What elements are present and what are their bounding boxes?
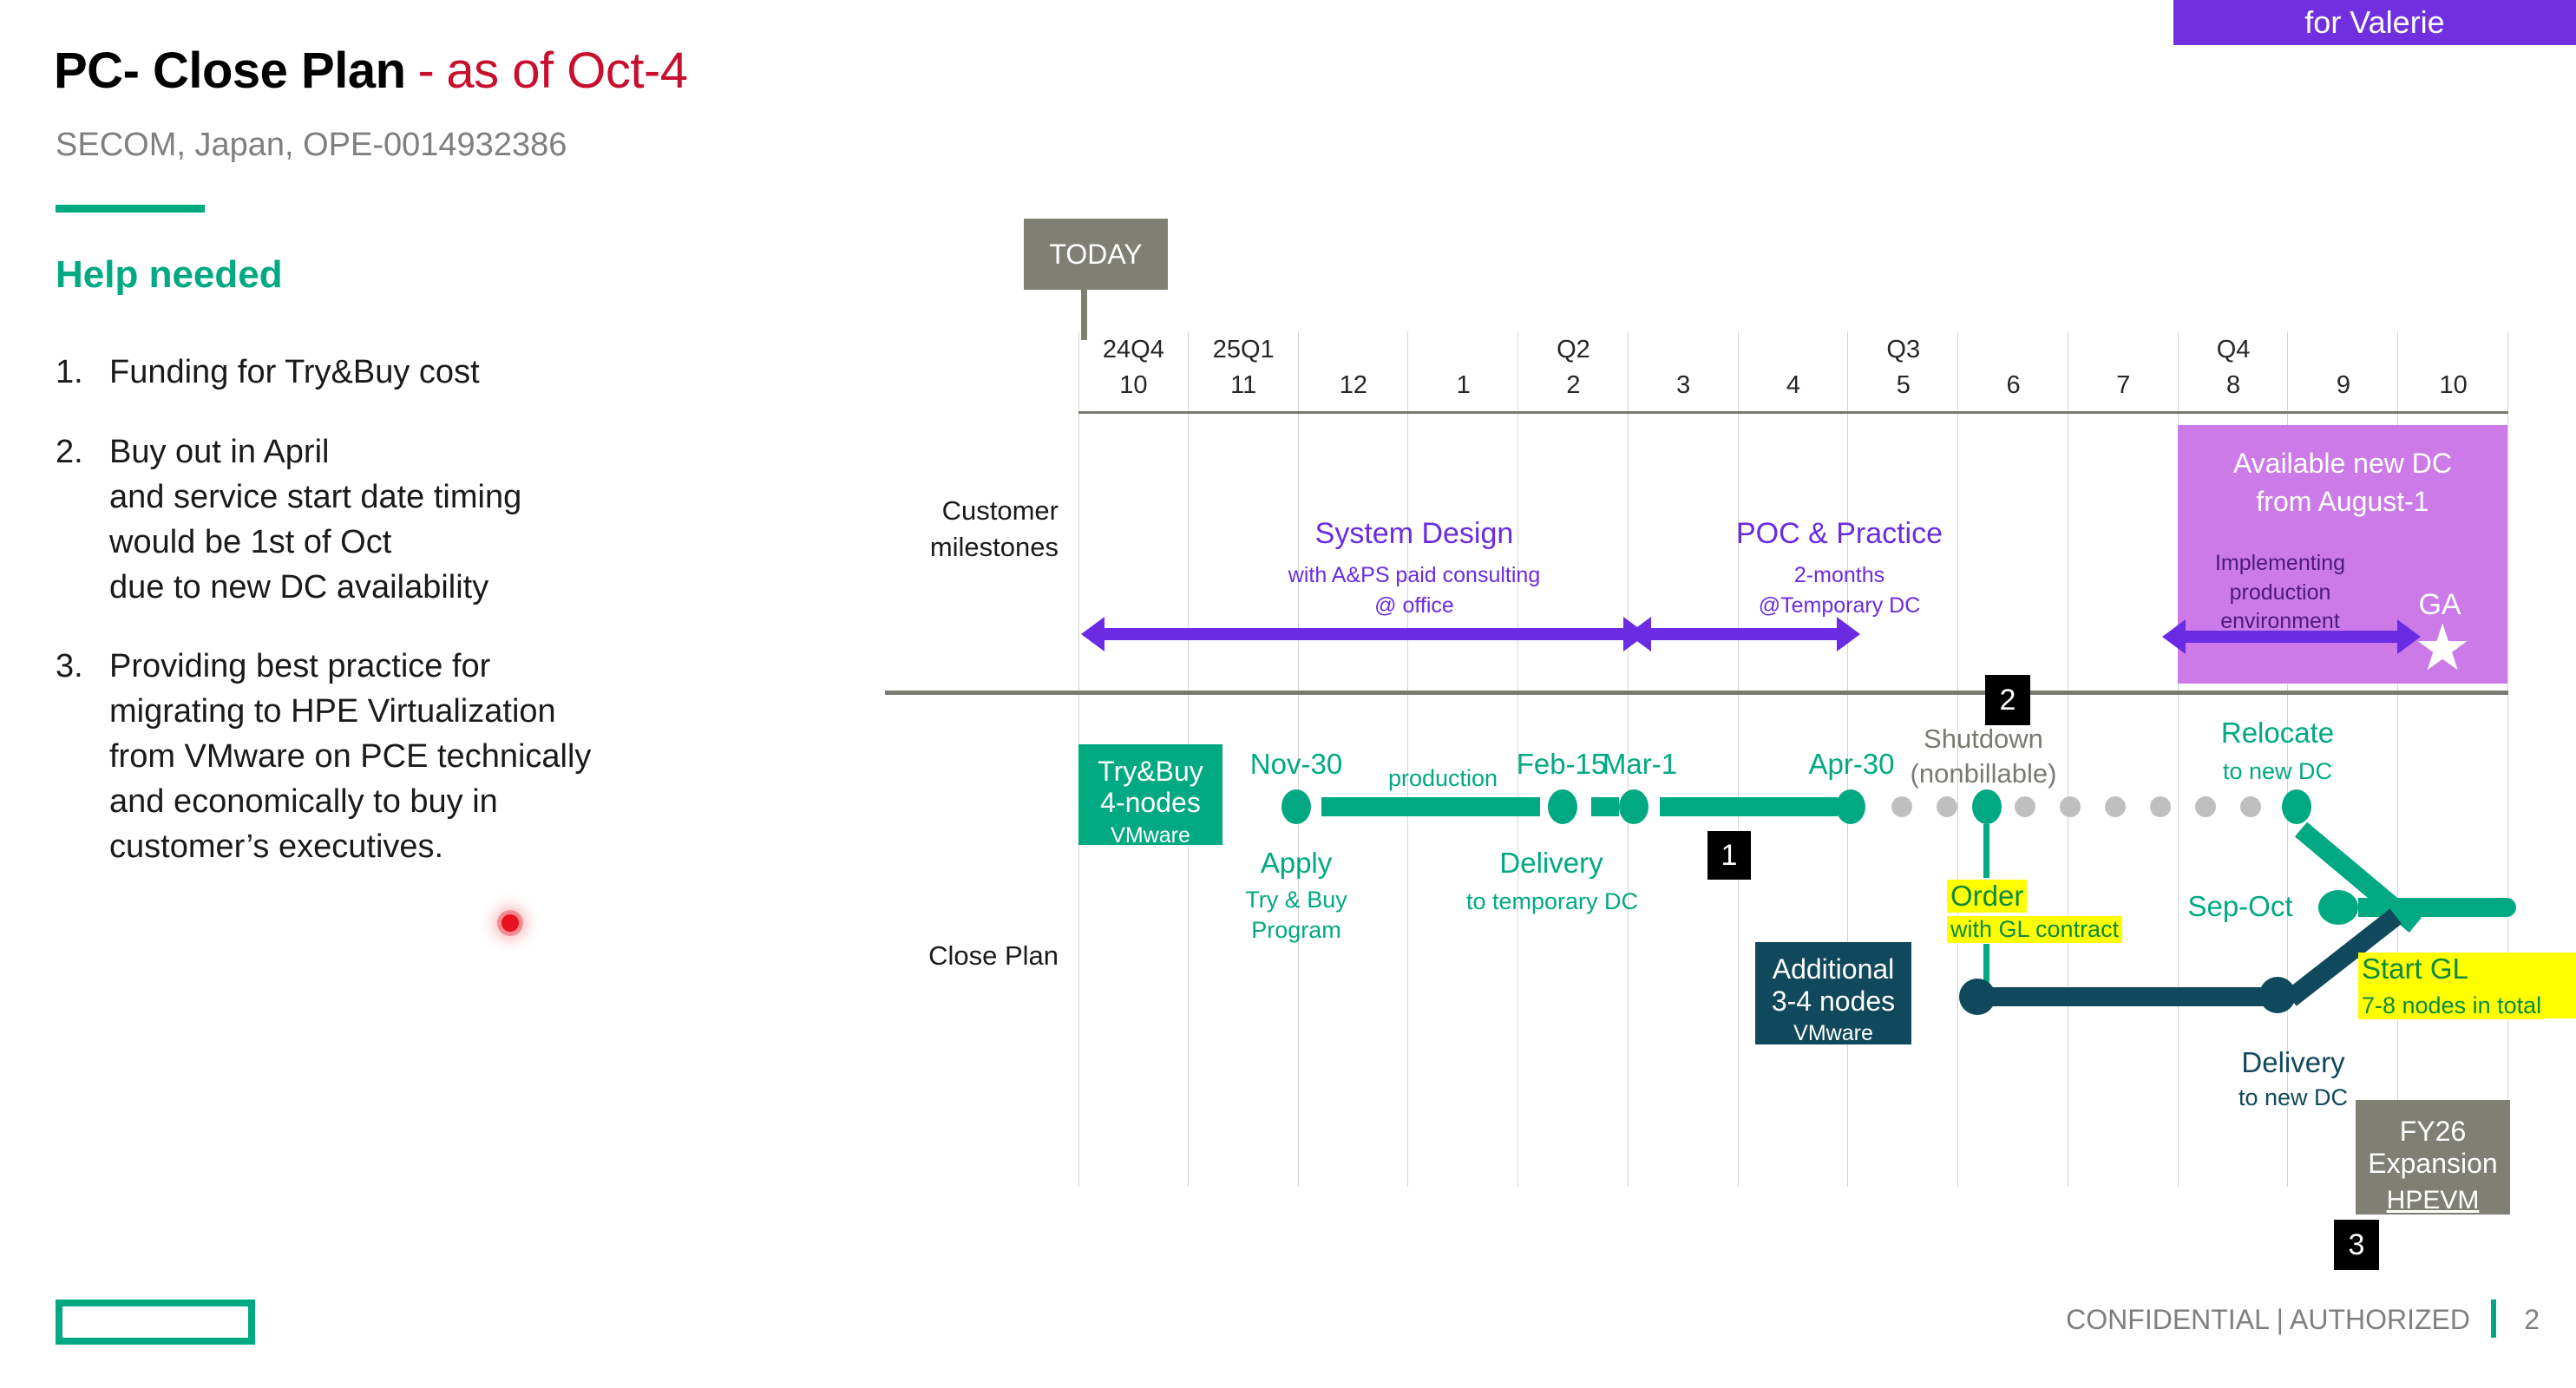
footer-separator [2491,1300,2496,1338]
quarter-label: Q4 [2179,336,2289,364]
title-rule [56,205,205,213]
available-new-dc-sub: Implementing production environment [2186,549,2374,637]
milestone-node-shutdown [1972,789,2002,824]
month-label: 6 [1958,371,2068,400]
page-subtitle: SECOM, Japan, OPE-0014932386 [56,127,567,164]
month-label: 4 [1739,371,1849,400]
bullet-line: Buy out in April [109,435,521,470]
bullet-line: from VMware on PCE technically [109,740,591,775]
bullet-number: 3. [56,650,109,874]
today-flag: TODAY [1024,219,1168,290]
timeline-dot [1937,796,1957,817]
milestone-node-apr30 [1836,789,1865,824]
month-label: 3 [1629,371,1739,400]
timeline-bar-feb-mar [1591,797,1619,816]
quarter-label: 24Q4 [1078,336,1189,364]
timeline-dot [2015,796,2035,817]
list-item: 2. Buy out in April and service start da… [56,435,888,616]
junction-node-sepoct [2318,890,2358,925]
list-item: 3. Providing best practice for migrating… [56,650,888,874]
available-new-dc-title: Available new DC from August-1 [2178,444,2507,520]
row-label-customer-milestones: Customer milestones [868,493,1059,566]
timeline-bar-mar-apr [1660,797,1838,816]
label-order-sub: with GL contract [1947,916,2122,943]
month-label: 8 [2179,371,2289,400]
implementing-production-arrow [2185,631,2398,643]
callout-number-2: 2 [1985,675,2030,725]
hpe-logo [56,1300,255,1345]
callout-number-3: 3 [2334,1220,2379,1270]
list-item: 1. Funding for Try&Buy cost [56,356,888,401]
timeline-dot [2195,796,2216,817]
today-flag-label: TODAY [1049,239,1142,271]
timeline-dot [2105,796,2126,817]
label-relocate-title: Relocate [2152,717,2403,750]
label-apply-title: Apply [1222,847,1371,880]
milestone-node-relocate [2282,789,2311,824]
bullet-number: 1. [56,356,109,401]
month-label: 10 [2398,371,2508,400]
quarter-label: 25Q1 [1189,336,1299,364]
bullet-line: customer’s executives. [109,830,591,865]
label-gl-payment-sub: 7-8 nodes in total [2358,992,2545,1019]
star-icon: ★ [2414,623,2471,673]
timeline-bar-nov-feb [1321,797,1540,816]
callout-number-1: 1 [1708,831,1751,880]
available-new-dc-panel: Available new DC from August-1 Implement… [2178,425,2507,684]
cursor-click-marker [501,914,519,932]
label-delivery-newdc-title: Delivery [2167,1046,2419,1079]
label-delivery-newdc-sub: to new DC [2167,1084,2419,1111]
title-dash: - [418,43,435,99]
fy26-expansion-chip: FY26 Expansion HPEVM [2356,1100,2510,1214]
footer-page-number: 2 [2524,1304,2540,1336]
month-label: 10 [1078,371,1189,400]
label-shutdown: Shutdown (nonbillable) [1874,722,2093,790]
month-label: 5 [1848,371,1958,400]
title-main: PC- Close Plan [54,43,406,99]
trybuy-4nodes-chip: Try&Buy 4-nodes VMware [1078,744,1222,845]
label-delivery-temp-sub: to temporary DC [1426,887,1678,917]
month-label: 9 [2289,371,2399,400]
order-connector-top [1983,824,1989,878]
bullet-line: Providing best practice for [109,650,591,684]
milestone-poc-sub: 2-months @Temporary DC [1440,560,2238,620]
bullet-line: Funding for Try&Buy cost [109,356,480,390]
milestone-node-feb15 [1548,789,1577,824]
title-asof: as of Oct-4 [446,43,687,99]
additional-nodes-chip: Additional 3-4 nodes VMware [1755,942,1911,1044]
additional-nodes-node [1959,979,1996,1015]
timeline-dot [1891,796,1912,817]
label-delivery-temp-title: Delivery [1458,847,1645,880]
label-relocate-sub: to new DC [2152,756,2403,787]
month-label: 7 [2068,371,2179,400]
milestone-poc-title: POC & Practice [1440,517,2238,551]
label-sepoct: Sep-Oct [2162,890,2318,923]
month-label: 12 [1299,371,1409,400]
label-order-title: Order [1947,880,2027,913]
bullet-line: due to new DC availability [109,571,521,606]
bullet-number: 2. [56,435,109,616]
label-nov30-date: Nov-30 [1218,748,1374,781]
page-title: PC- Close Plan-as of Oct-4 [54,42,688,100]
valerie-callout: as of October-4 for Valerie [2173,0,2576,45]
timeline-dot [2150,796,2171,817]
quarter-label: Q2 [1518,336,1629,364]
poc-arrow [1650,628,1838,640]
bullet-line: migrating to HPE Virtualization [109,695,591,730]
month-label: 11 [1189,371,1299,400]
milestone-node-mar1 [1619,789,1649,824]
bullet-line: and economically to buy in [109,785,591,820]
help-needed-list: 1. Funding for Try&Buy cost 2. Buy out i… [56,356,888,910]
timeline-dot [2060,796,2081,817]
help-needed-heading: Help needed [56,253,283,297]
row-label-close-plan: Close Plan [868,940,1059,972]
label-apply-sub: Try & Buy Program [1222,885,1371,946]
milestone-node-nov30 [1281,789,1311,824]
row-divider [885,691,2508,695]
bullet-text: Buy out in April and service start date … [109,435,521,616]
additional-nodes-bar [1992,987,2275,1006]
label-mar1-date: Mar-1 [1553,748,1727,781]
bullet-line: and service start date timing [109,481,521,515]
quarter-label: Q3 [1848,336,1958,364]
bullet-text: Funding for Try&Buy cost [109,356,480,401]
valerie-line2: for Valerie [2173,0,2576,45]
month-label: 2 [1518,371,1629,400]
bullet-text: Providing best practice for migrating to… [109,650,591,874]
timeline-dot [2240,796,2261,817]
footer-classification: CONFIDENTIAL | AUTHORIZED [2066,1304,2470,1336]
month-label: 1 [1408,371,1518,400]
bullet-line: would be 1st of Oct [109,526,521,560]
system-design-arrow [1104,628,1624,640]
